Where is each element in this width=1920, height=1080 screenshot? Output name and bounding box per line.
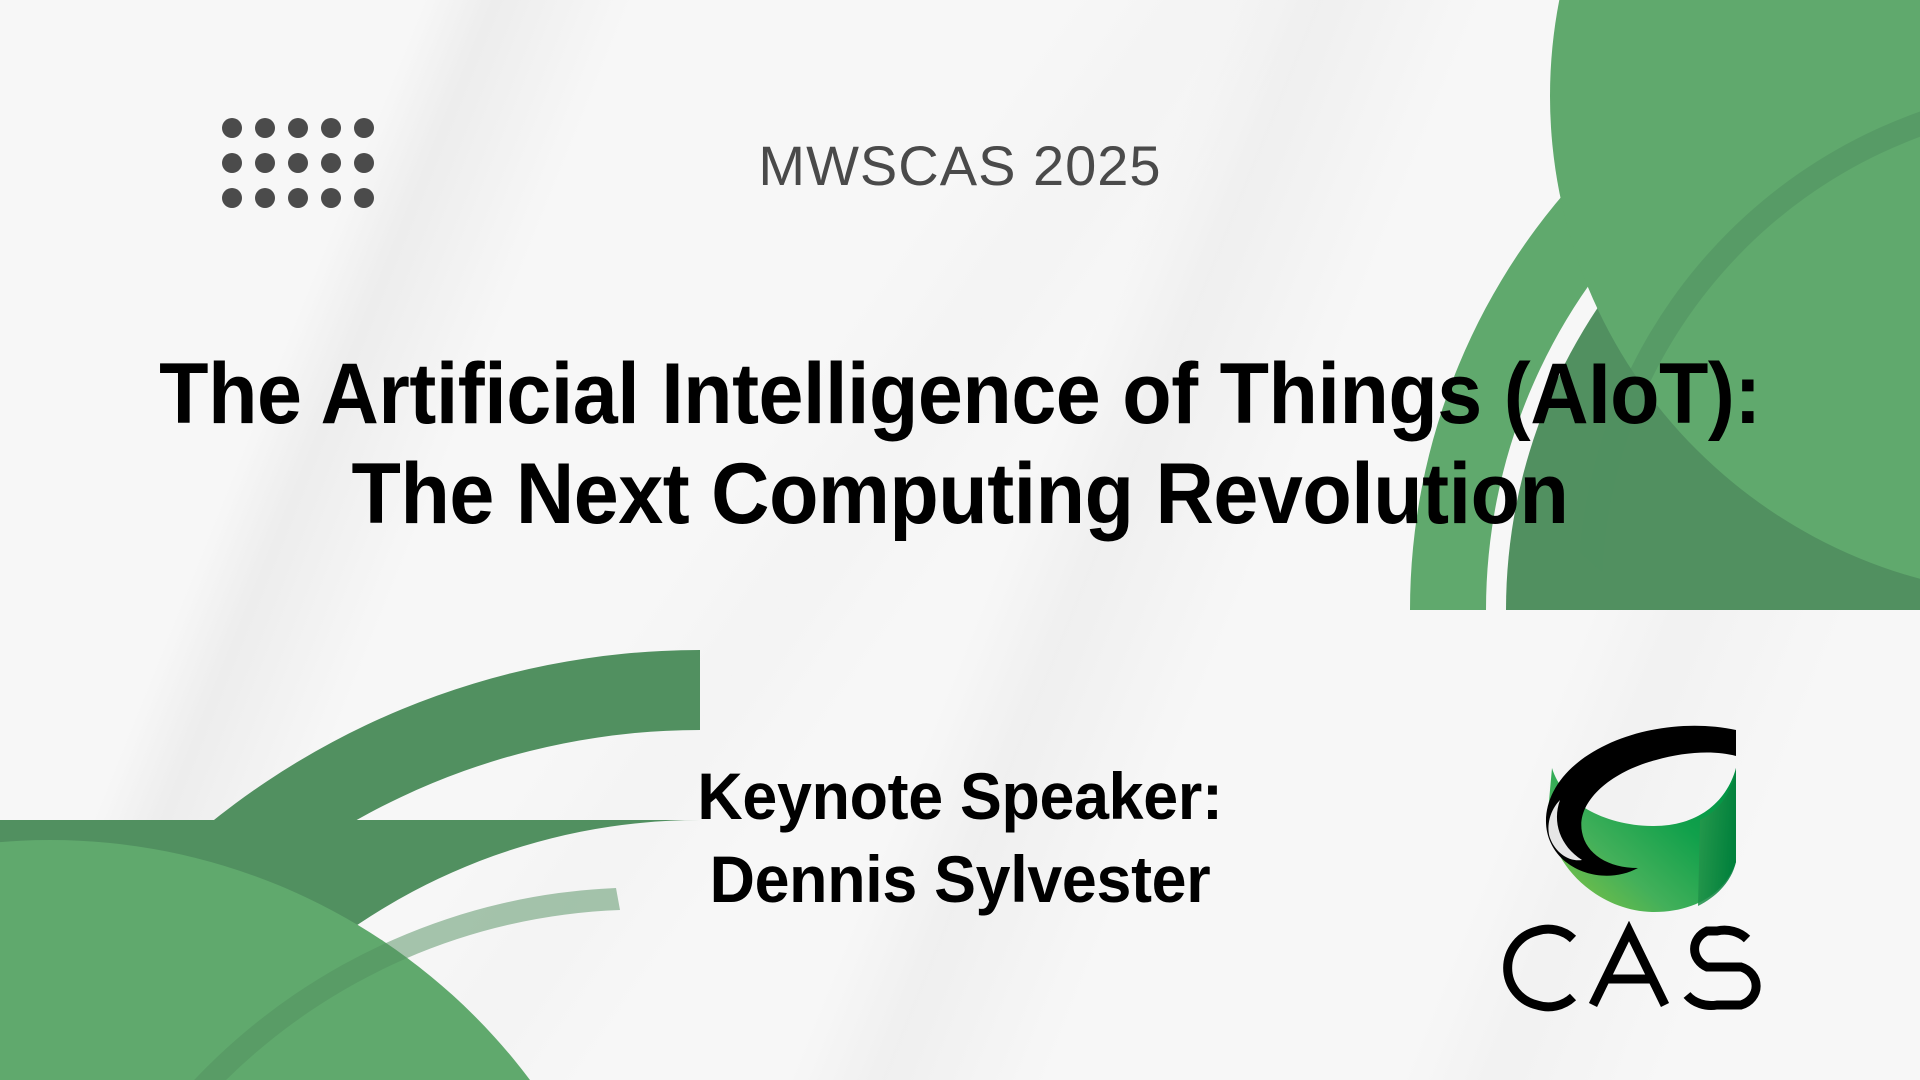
cas-swirl-icon (1530, 716, 1760, 931)
title-line-1: The Artificial Intelligence of Things (A… (58, 345, 1863, 445)
conference-name: MWSCAS 2025 (0, 133, 1920, 198)
presentation-slide: MWSCAS 2025 The Artificial Intelligence … (0, 0, 1920, 1080)
cas-wordmark (1495, 921, 1795, 1016)
title-line-2: The Next Computing Revolution (58, 445, 1863, 545)
cas-logo: IEEE CIRCUITS AND SYSTEMS SOCIETY (1495, 716, 1795, 1046)
slide-header: MWSCAS 2025 (0, 0, 1920, 250)
slide-title: The Artificial Intelligence of Things (A… (0, 345, 1920, 545)
